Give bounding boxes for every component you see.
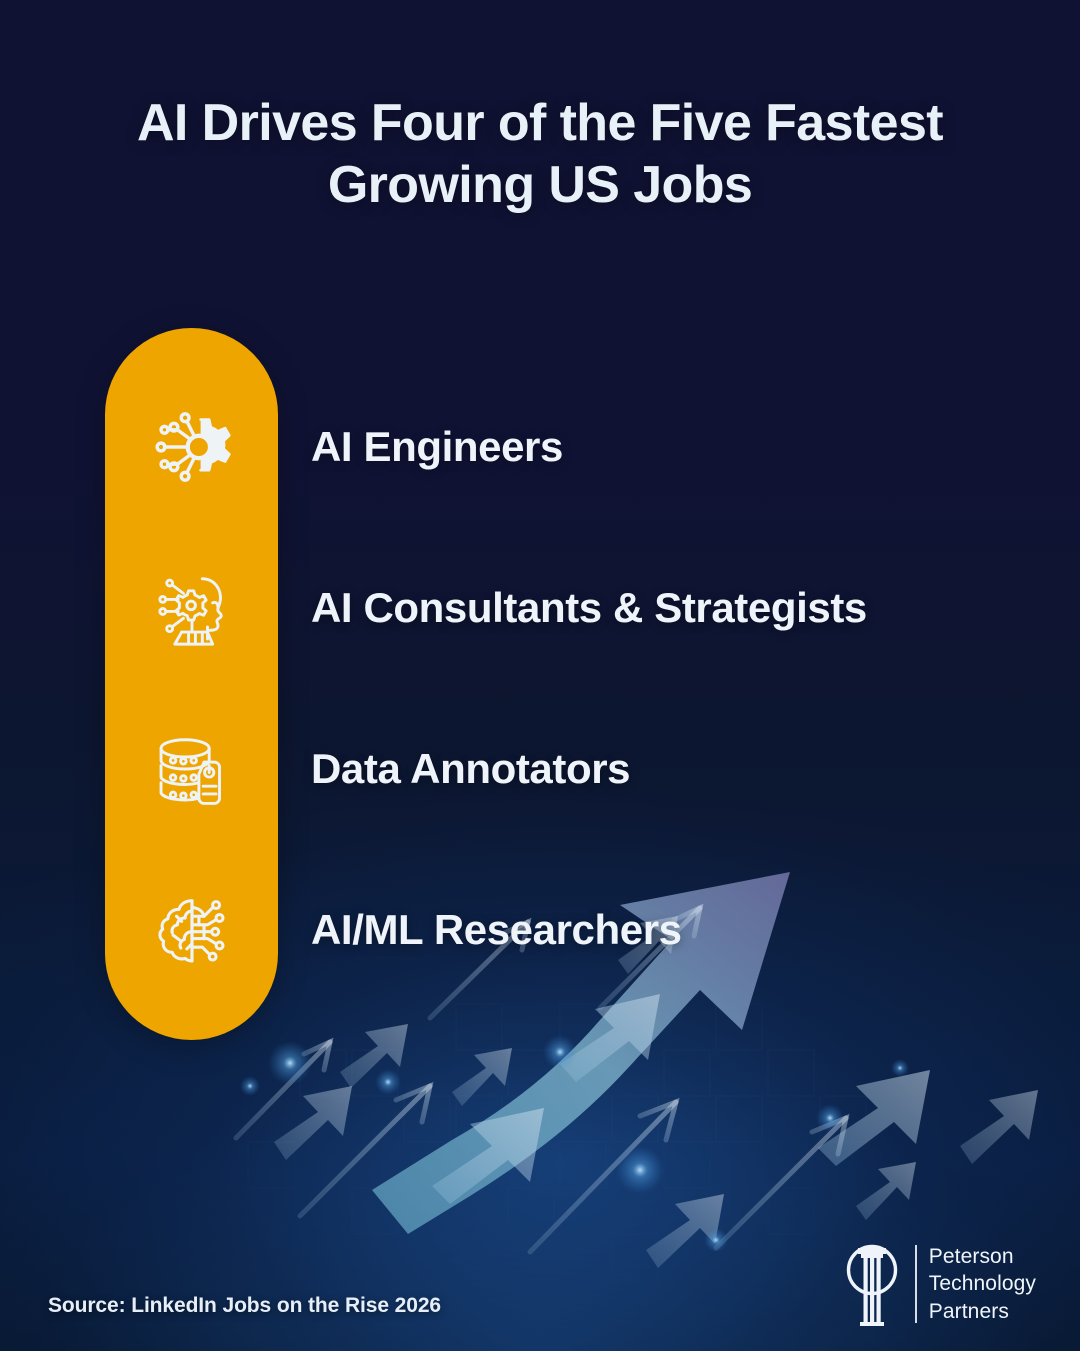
brand-wordmark: Peterson Technology Partners	[929, 1243, 1036, 1325]
jobs-list: AI Engineers	[105, 328, 1010, 1040]
list-item[interactable]: AI Consultants & Strategists	[105, 549, 1010, 667]
job-title-label: AI/ML Researchers	[311, 906, 682, 954]
job-title-label: AI Consultants & Strategists	[311, 584, 867, 632]
job-title-label: Data Annotators	[311, 745, 630, 793]
list-item[interactable]: AI Engineers	[105, 388, 1010, 506]
list-item[interactable]: AI/ML Researchers	[105, 871, 1010, 989]
job-title-label: AI Engineers	[311, 423, 563, 471]
head-gear-profile-icon	[105, 558, 278, 658]
list-item[interactable]: Data Annotators	[105, 710, 1010, 828]
pillar-circle-mark-icon	[841, 1241, 903, 1327]
logo-divider	[915, 1245, 917, 1323]
source-note: Source: LinkedIn Jobs on the Rise 2026	[48, 1294, 441, 1318]
ai-brain-circuit-icon	[105, 880, 278, 980]
brand-line-2: Technology	[929, 1270, 1036, 1297]
brand-logo[interactable]: Peterson Technology Partners	[841, 1241, 1036, 1327]
database-tag-icon	[105, 719, 278, 819]
infographic-poster: AI Drives Four of the Five Fastest Growi…	[0, 0, 1080, 1351]
jobs-list-section: AI Engineers	[105, 328, 1010, 1040]
brand-line-3: Partners	[929, 1298, 1036, 1325]
brand-line-1: Peterson	[929, 1243, 1036, 1270]
page-title: AI Drives Four of the Five Fastest Growi…	[0, 92, 1080, 217]
gear-circuit-icon	[105, 397, 278, 497]
